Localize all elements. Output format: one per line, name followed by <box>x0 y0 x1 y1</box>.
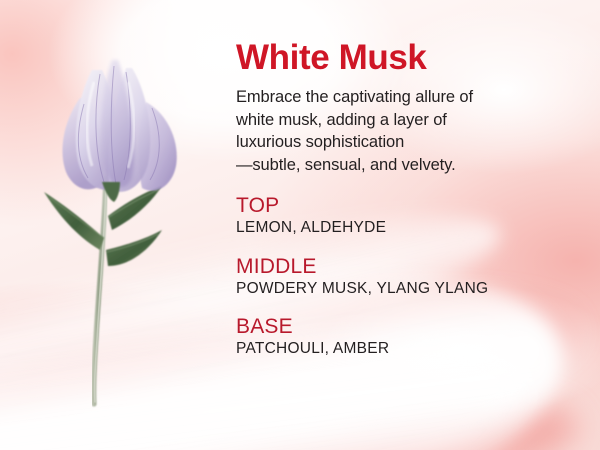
description: Embrace the captivating allure of white … <box>236 86 576 177</box>
note-ingredients-top: LEMON, ALDEHYDE <box>236 219 576 238</box>
description-line-4: —subtle, sensual, and velvety. <box>236 156 456 174</box>
note-group-middle: MIDDLE POWDERY MUSK, YLANG YLANG <box>236 255 576 299</box>
description-line-1: Embrace the captivating allure of <box>236 88 473 106</box>
description-line-3: luxurious sophistication <box>236 133 404 151</box>
note-heading-base: BASE <box>236 315 576 339</box>
note-group-top: TOP LEMON, ALDEHYDE <box>236 194 576 238</box>
flower-stem <box>94 178 106 404</box>
text-content: White Musk Embrace the captivating allur… <box>236 40 576 359</box>
note-ingredients-base: PATCHOULI, AMBER <box>236 340 576 359</box>
description-line-2: white musk, adding a layer of <box>236 111 447 129</box>
fragrance-banner: White Musk Embrace the captivating allur… <box>0 0 600 450</box>
flower-petals <box>62 60 176 202</box>
note-heading-top: TOP <box>236 194 576 218</box>
flower-illustration <box>28 38 218 428</box>
note-heading-middle: MIDDLE <box>236 255 576 279</box>
page-title: White Musk <box>236 40 576 77</box>
note-group-base: BASE PATCHOULI, AMBER <box>236 315 576 359</box>
note-ingredients-middle: POWDERY MUSK, YLANG YLANG <box>236 280 576 299</box>
